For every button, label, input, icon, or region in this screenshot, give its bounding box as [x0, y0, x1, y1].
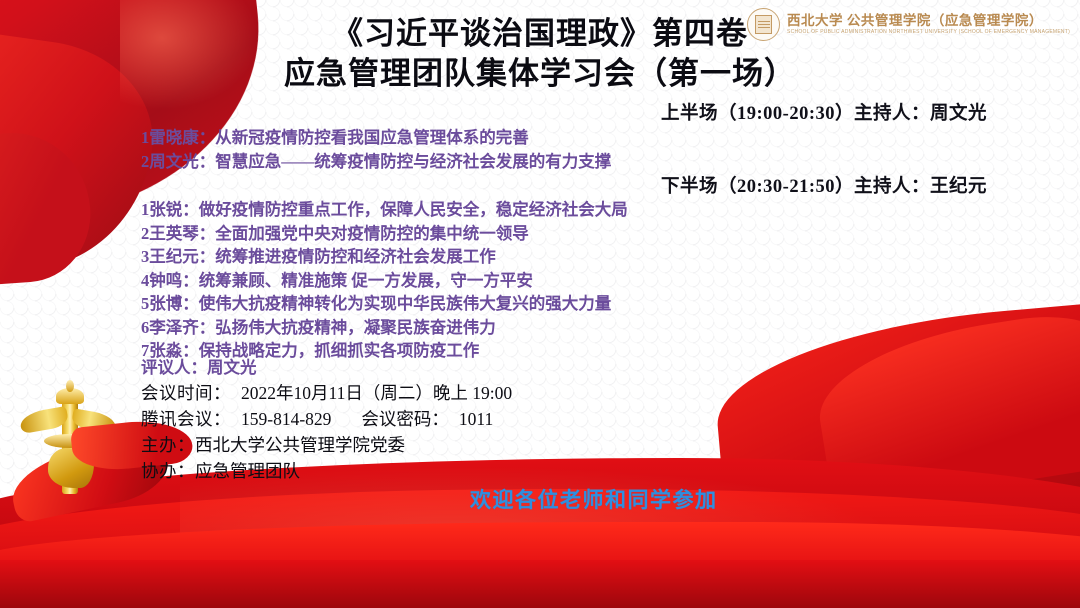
meeting-id-row: 腾讯会议：159-814-829会议密码：1011 — [141, 406, 512, 432]
meeting-time-row: 会议时间：2022年10月11日（周二）晚上 19:00 — [141, 380, 512, 406]
coorganizer-label: 协办： — [141, 461, 195, 481]
list-item: 4钟鸣：统筹兼顾、精准施策 促一方发展，守一方平安 — [141, 269, 628, 293]
organizer-label: 主办： — [141, 435, 195, 455]
slide-content: 西北大学 公共管理学院（应急管理学院） SCHOOL OF PUBLIC ADM… — [0, 0, 1080, 608]
coorganizer-value: 应急管理团队 — [195, 461, 300, 481]
organizer-value: 西北大学公共管理学院党委 — [195, 435, 405, 455]
session-header-second-half: 下半场（20:30-21:50）主持人：王纪元 — [0, 172, 987, 198]
list-item: 6李泽齐：弘扬伟大抗疫精神，凝聚民族奋进伟力 — [141, 316, 628, 340]
list-item: 1雷晓康：从新冠疫情防控看我国应急管理体系的完善 — [141, 126, 611, 150]
list-item: 2王英琴：全面加强党中央对疫情防控的集中统一领导 — [141, 222, 628, 246]
meeting-password-label: 会议密码： — [361, 409, 449, 429]
list-item: 5张博：使伟大抗疫精神转化为实现中华民族伟大复兴的强大力量 — [141, 292, 628, 316]
session-header-first-half: 上半场（19:00-20:30）主持人：周文光 — [0, 99, 987, 125]
presentation-slide: 西北大学 公共管理学院（应急管理学院） SCHOOL OF PUBLIC ADM… — [0, 0, 1080, 608]
tencent-meeting-value: 159-814-829 — [241, 409, 331, 429]
list-item: 1张锐：做好疫情防控重点工作，保障人民安全，稳定经济社会大局 — [141, 198, 628, 222]
list-item: 3王纪元：统筹推进疫情防控和经济社会发展工作 — [141, 245, 628, 269]
meeting-password-value: 1011 — [459, 409, 493, 429]
talk-list-second-half: 1张锐：做好疫情防控重点工作，保障人民安全，稳定经济社会大局 2王英琴：全面加强… — [141, 198, 628, 363]
reviewer-line: 评议人：周文光 — [141, 355, 512, 380]
list-item: 2周文光：智慧应急——统筹疫情防控与经济社会发展的有力支撑 — [141, 150, 611, 174]
welcome-message: 欢迎各位老师和同学参加 — [470, 484, 718, 514]
tencent-meeting-label: 腾讯会议： — [141, 409, 231, 429]
meeting-time-value: 2022年10月11日（周二）晚上 19:00 — [241, 383, 512, 403]
title-line-2: 应急管理团队集体学习会（第一场） — [0, 54, 1080, 94]
coorganizer-row: 协办：应急管理团队 — [141, 458, 512, 484]
meeting-time-label: 会议时间： — [141, 383, 231, 403]
talk-list-first-half: 1雷晓康：从新冠疫情防控看我国应急管理体系的完善 2周文光：智慧应急——统筹疫情… — [141, 126, 611, 173]
page-title: 《习近平谈治国理政》第四卷 应急管理团队集体学习会（第一场） — [0, 14, 1080, 93]
title-line-1: 《习近平谈治国理政》第四卷 — [0, 14, 1080, 54]
organizer-row: 主办：西北大学公共管理学院党委 — [141, 432, 512, 458]
meeting-info-block: 评议人：周文光 会议时间：2022年10月11日（周二）晚上 19:00 腾讯会… — [141, 355, 512, 484]
